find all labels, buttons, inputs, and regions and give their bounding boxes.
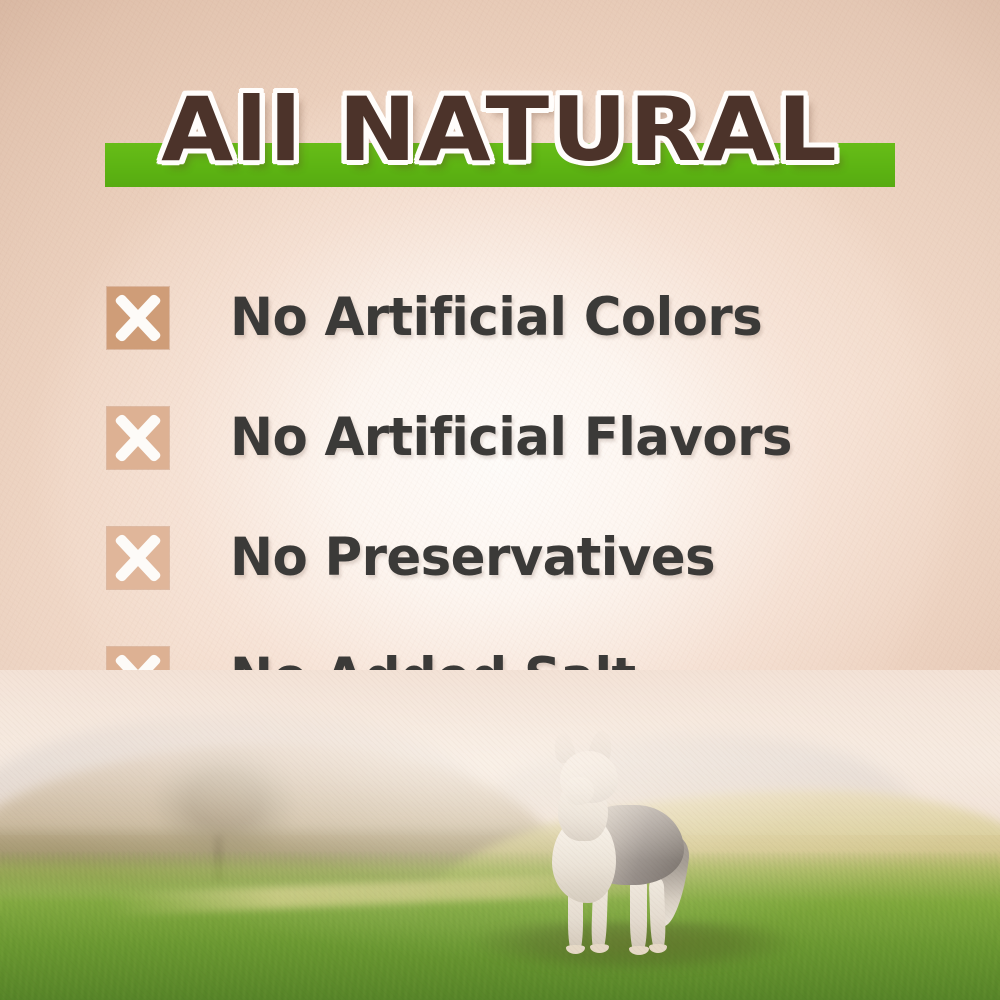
claim-label: No Artificial Flavors xyxy=(230,410,792,466)
dog-leg xyxy=(630,877,647,951)
dog-leg xyxy=(649,879,666,949)
claim-label: No Artificial Colors xyxy=(230,290,762,346)
dog-paw xyxy=(590,944,609,953)
title-banner: All NATURAL xyxy=(0,74,1000,199)
list-item: No Preservatives xyxy=(107,498,907,618)
list-item: No Artificial Colors xyxy=(107,258,907,378)
banner-title-text: All NATURAL xyxy=(0,78,1000,182)
claim-label: No Preservatives xyxy=(230,530,715,586)
landscape-photo xyxy=(0,670,1000,1000)
claims-list: No Artificial Colors No Artificial Flavo… xyxy=(107,258,907,738)
dog-paw xyxy=(649,944,667,953)
dog-muzzle xyxy=(564,777,594,805)
x-mark-icon xyxy=(107,407,169,469)
x-mark-icon xyxy=(107,287,169,349)
list-item: No Artificial Flavors xyxy=(107,378,907,498)
x-mark-icon xyxy=(107,527,169,589)
dog-paw xyxy=(566,945,585,954)
border-collie-dog xyxy=(530,729,700,954)
dog-paw xyxy=(629,946,649,955)
poster-canvas: All NATURAL No Artificial Colors No Arti… xyxy=(0,0,1000,1000)
